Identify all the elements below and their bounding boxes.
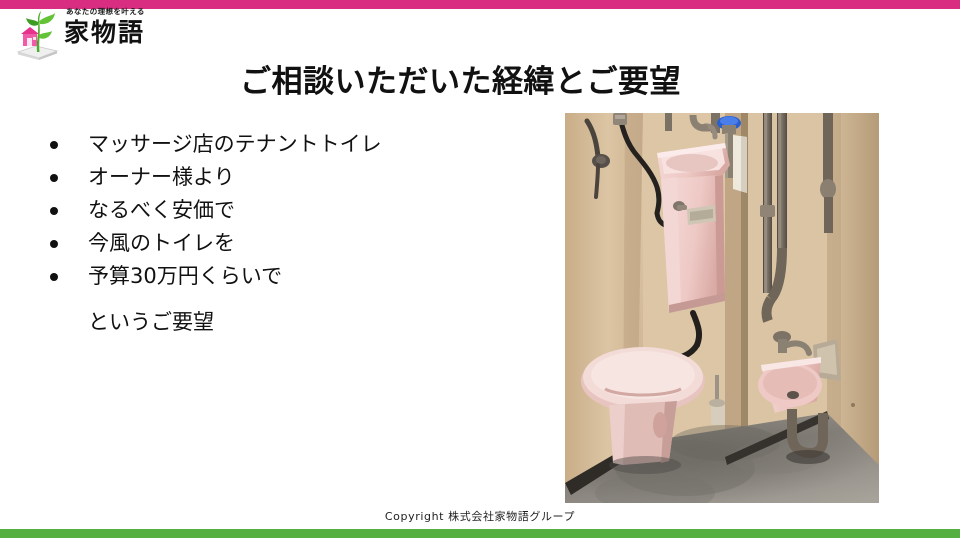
sprout-house-logo-icon (12, 8, 62, 60)
bullet-dot-icon (50, 273, 58, 281)
closing-remark: というご要望 (88, 306, 214, 339)
bullet-dot-icon (50, 240, 58, 248)
bullet-dot-icon (50, 207, 58, 215)
list-item-label: なるべく安価で (88, 198, 235, 222)
list-item-label: マッサージ店のテナントトイレ (88, 132, 382, 156)
toilet-photo (565, 113, 879, 503)
bullet-dot-icon (50, 174, 58, 182)
list-item-label: 今風のトイレを (88, 231, 235, 255)
list-item: なるべく安価で (44, 194, 524, 227)
requirements-list: マッサージ店のテナントトイレ オーナー様より なるべく安価で 今風のトイレを 予… (44, 128, 524, 293)
list-item: 今風のトイレを (44, 227, 524, 260)
page-title: ご相談いただいた経緯とご要望 (240, 56, 760, 101)
footer-copyright: Copyright 株式会社家物語グループ (0, 508, 960, 524)
logo-company-name: 家物語 (64, 17, 164, 49)
bullet-dot-icon (50, 141, 58, 149)
list-item: マッサージ店のテナントトイレ (44, 128, 524, 161)
list-item-label: オーナー様より (88, 165, 235, 189)
bottom-accent-bar (0, 529, 960, 538)
company-logo: あなたの理想を叶える 家物語 (12, 6, 162, 62)
list-item-label: 予算30万円くらいで (88, 264, 282, 288)
list-item: 予算30万円くらいで (44, 260, 524, 293)
list-item: オーナー様より (44, 161, 524, 194)
logo-tagline: あなたの理想を叶える (64, 6, 164, 17)
slide-canvas: あなたの理想を叶える 家物語 ご相談いただいた経緯とご要望 マッサージ店のテナン… (0, 0, 960, 540)
